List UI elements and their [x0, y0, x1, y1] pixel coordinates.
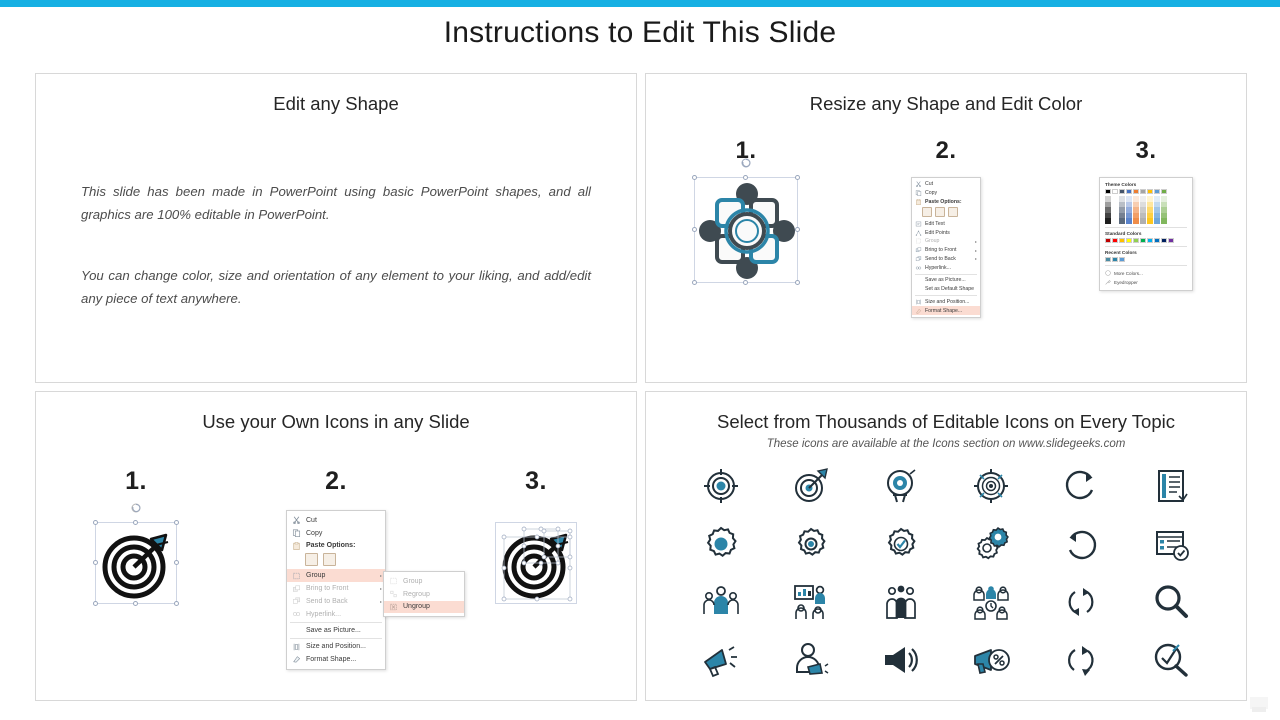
- submenu-item-regroup[interactable]: Regroup: [384, 588, 464, 601]
- megaphone-icon: [701, 640, 741, 680]
- megaphone-percent-icon: [971, 640, 1011, 680]
- context-menu-item-save-as-picture[interactable]: Save as Picture...: [912, 276, 980, 285]
- target-dart-icon: [96, 523, 178, 605]
- recent-color-swatch[interactable]: [1105, 257, 1111, 262]
- group-icon: [915, 238, 922, 244]
- standard-color-swatch[interactable]: [1126, 238, 1132, 243]
- cut-icon: [915, 181, 922, 187]
- resize-handle-bl[interactable]: [692, 280, 697, 285]
- presentation-team-icon: [791, 582, 831, 622]
- context-menu-item-save-as-picture[interactable]: Save as Picture...: [287, 624, 385, 636]
- theme-color-shade-column: [1147, 196, 1153, 224]
- crosshair-scope-icon: [971, 466, 1011, 506]
- context-menu-separator: [290, 638, 382, 639]
- step-visual: [41, 522, 231, 642]
- theme-color-shade-column: [1154, 196, 1160, 224]
- context-menu-separator: [915, 295, 977, 296]
- resize-handle-ml[interactable]: [93, 560, 98, 565]
- theme-color-shade-column: [1161, 196, 1167, 224]
- more-colors-label: More Colors...: [1114, 271, 1143, 276]
- theme-color-shade-swatch[interactable]: [1105, 218, 1111, 224]
- panel-icon-library-subtitle: These icons are available at the Icons s…: [646, 438, 1246, 450]
- format-shape-icon: [915, 308, 922, 314]
- context-menu-item-size-and-position[interactable]: Size and Position...: [287, 640, 385, 653]
- icon-cell[interactable]: [946, 521, 1036, 566]
- theme-color-shade-swatch[interactable]: [1126, 218, 1132, 224]
- context-menu-label: Set as Default Shape: [925, 286, 974, 292]
- resize-handle-ml[interactable]: [692, 227, 697, 232]
- resize-step-3: 3. Theme Colors Standard Colors Recent C…: [1051, 137, 1241, 297]
- person-megaphone-icon: [791, 640, 831, 680]
- context-menu-item-size-and-position[interactable]: Size and Position...: [912, 298, 980, 307]
- refresh-clockwise-icon: [1061, 466, 1101, 506]
- theme-color-shade-swatch[interactable]: [1147, 218, 1153, 224]
- target-dart-icon: [496, 523, 578, 605]
- theme-color-swatch[interactable]: [1140, 189, 1146, 194]
- theme-color-swatch[interactable]: [1119, 189, 1125, 194]
- gear-check-icon: [881, 524, 921, 564]
- cut-icon: [292, 516, 301, 524]
- icon-cell[interactable]: [766, 463, 856, 508]
- context-menu-label: Format Shape...: [306, 656, 356, 663]
- step-visual: Cut Copy Paste Options:: [241, 510, 431, 670]
- step-visual: [651, 177, 841, 297]
- context-menu-label: Save as Picture...: [306, 627, 361, 634]
- context-menu-item-set-default-shape[interactable]: Set as Default Shape: [912, 285, 980, 294]
- recent-color-swatch[interactable]: [1119, 257, 1125, 262]
- context-menu-label: Cut: [925, 181, 933, 187]
- resize-handle-tc[interactable]: [743, 175, 748, 180]
- checklist-approved-icon: [1151, 524, 1191, 564]
- context-menu-label: Edit Points: [925, 230, 950, 236]
- copy-icon: [915, 190, 922, 196]
- theme-color-shade-swatch[interactable]: [1133, 218, 1139, 224]
- context-menu-item-bring-to-front[interactable]: Bring to Front ▸: [912, 246, 980, 255]
- icon-cell[interactable]: [1036, 637, 1126, 682]
- resize-handle-bc[interactable]: [743, 280, 748, 285]
- standard-color-swatch[interactable]: [1105, 238, 1111, 243]
- regroup-icon: [389, 590, 398, 598]
- context-menu-item-hyperlink[interactable]: Hyperlink...: [912, 263, 980, 272]
- panel-icon-library-title: Select from Thousands of Editable Icons …: [646, 411, 1246, 433]
- theme-color-shade-swatch[interactable]: [1140, 218, 1146, 224]
- icon-cell[interactable]: [1036, 521, 1126, 566]
- theme-color-shade-swatch[interactable]: [1112, 218, 1118, 224]
- eyedropper-icon: [1105, 279, 1111, 285]
- resize-handle-tr[interactable]: [795, 175, 800, 180]
- context-menu-item-format-shape[interactable]: Format Shape...: [912, 306, 980, 315]
- resize-step-2: 2. Cut Copy Paste Options:: [851, 137, 1041, 318]
- context-menu-item-edit-text[interactable]: Edit Text: [912, 219, 980, 228]
- more-colors-icon: [1105, 270, 1111, 276]
- step-number: 2.: [241, 467, 431, 496]
- bring-front-icon: [292, 585, 301, 593]
- icon-library-grid: [676, 463, 1216, 682]
- standard-color-swatch[interactable]: [1154, 238, 1160, 243]
- theme-color-swatch[interactable]: [1126, 189, 1132, 194]
- theme-color-swatch[interactable]: [1105, 189, 1111, 194]
- context-menu-item-edit-points[interactable]: Edit Points: [912, 228, 980, 237]
- context-menu-label: Save as Picture...: [925, 277, 966, 283]
- submenu-item-ungroup[interactable]: Ungroup: [384, 601, 464, 614]
- recent-color-swatch[interactable]: [1112, 257, 1118, 262]
- resize-handle-mr[interactable]: [795, 227, 800, 232]
- theme-color-swatch[interactable]: [1154, 189, 1160, 194]
- panel-grid: Edit any Shape This slide has been made …: [35, 73, 1247, 695]
- theme-color-shade-swatch[interactable]: [1154, 218, 1160, 224]
- edit-shape-paragraph-2: You can change color, size and orientati…: [81, 265, 591, 310]
- paste-options-row: [287, 552, 385, 569]
- theme-color-swatch[interactable]: [1147, 189, 1153, 194]
- resize-handle-tr[interactable]: [174, 520, 179, 525]
- color-picker-separator: [1105, 246, 1187, 247]
- step-visual: Theme Colors Standard Colors Recent Colo…: [1051, 177, 1241, 297]
- context-menu-item-cut[interactable]: Cut: [287, 514, 385, 527]
- resize-handle-br[interactable]: [795, 280, 800, 285]
- context-menu-label: Size and Position...: [925, 299, 969, 305]
- submenu-label: Ungroup: [403, 603, 430, 610]
- context-menu-label: Hyperlink...: [306, 611, 341, 618]
- page-title: Instructions to Edit This Slide: [0, 16, 1280, 50]
- target-crosshair-icon: [701, 466, 741, 506]
- icon-cell[interactable]: [1126, 521, 1216, 566]
- recent-colors-row: [1105, 257, 1187, 262]
- theme-colors-label: Theme Colors: [1105, 182, 1187, 187]
- panel-own-icons: Use your Own Icons in any Slide 1.: [35, 391, 637, 701]
- refresh-cycle-icon: [1061, 640, 1101, 680]
- more-colors-button[interactable]: More Colors...: [1105, 269, 1187, 278]
- gear-outline-icon: [791, 524, 831, 564]
- panel-own-icons-title: Use your Own Icons in any Slide: [36, 411, 636, 433]
- context-menu-item-copy[interactable]: Copy: [287, 527, 385, 540]
- theme-color-shade-column: [1133, 196, 1139, 224]
- slide-watermark-icon: [1246, 693, 1272, 715]
- context-menu-item-paste-options[interactable]: Paste Options:: [912, 198, 980, 207]
- icon-cell[interactable]: [1036, 463, 1126, 508]
- rotate-handle-icon[interactable]: [741, 158, 751, 168]
- submenu-arrow-icon: ▸: [380, 586, 382, 591]
- context-menu-label: Hyperlink...: [925, 265, 951, 271]
- color-picker-panel[interactable]: Theme Colors Standard Colors Recent Colo…: [1099, 177, 1193, 291]
- context-menu-item-group[interactable]: Group ▸: [287, 569, 385, 582]
- step-number: 1.: [41, 467, 231, 496]
- people-crowd-icon: [881, 582, 921, 622]
- editable-quad-shape-icon: [695, 178, 799, 284]
- icon-selection-box[interactable]: [95, 522, 177, 604]
- context-menu-item-group[interactable]: Group ▸: [912, 237, 980, 246]
- bring-front-icon: [915, 247, 922, 253]
- theme-color-swatch[interactable]: [1112, 189, 1118, 194]
- panel-icon-library: Select from Thousands of Editable Icons …: [645, 391, 1247, 701]
- gear-solid-icon: [701, 524, 741, 564]
- eyedropper-label: Eyedropper: [1114, 280, 1138, 285]
- icon-cell[interactable]: [856, 463, 946, 508]
- loudspeaker-icon: [881, 640, 921, 680]
- resize-handle-tl[interactable]: [93, 520, 98, 525]
- resize-handle-br[interactable]: [174, 601, 179, 606]
- sync-circular-arrows-icon: [1061, 582, 1101, 622]
- icon-cell[interactable]: [946, 637, 1036, 682]
- context-menu-label: Cut: [306, 517, 317, 524]
- context-menu-item-hyperlink[interactable]: Hyperlink...: [287, 608, 385, 621]
- theme-color-shade-column: [1126, 196, 1132, 224]
- theme-color-shade-column: [1140, 196, 1146, 224]
- icon-cell[interactable]: [676, 521, 766, 566]
- hyperlink-icon: [292, 610, 301, 618]
- submenu-arrow-icon: ▸: [380, 599, 382, 604]
- context-menu-label: Edit Text: [925, 221, 945, 227]
- submenu-arrow-icon: ▸: [975, 239, 977, 244]
- standard-color-swatch[interactable]: [1161, 238, 1167, 243]
- paste-icon: [915, 199, 922, 205]
- paste-options-row: [912, 206, 980, 219]
- context-menu-label: Bring to Front: [306, 585, 348, 592]
- icon-cell[interactable]: [676, 463, 766, 508]
- icon-cell[interactable]: [766, 637, 856, 682]
- submenu-label: Group: [403, 578, 422, 585]
- submenu-arrow-icon: ▸: [975, 256, 977, 261]
- context-menu-label: Group: [306, 572, 325, 579]
- submenu-label: Regroup: [403, 591, 430, 598]
- shape-context-menu[interactable]: Cut Copy Paste Options:: [911, 177, 981, 318]
- refresh-arrow-icon: [1061, 524, 1101, 564]
- context-menu-label: Bring to Front: [925, 247, 956, 253]
- context-menu-label: Copy: [925, 190, 937, 196]
- context-menu-label: Send to Back: [925, 256, 956, 262]
- icon-cell[interactable]: [676, 579, 766, 624]
- icon-context-menu[interactable]: Cut Copy Paste Options:: [286, 510, 386, 670]
- group-icon: [389, 577, 398, 585]
- edit-shape-paragraph-1: This slide has been made in PowerPoint u…: [81, 181, 591, 226]
- rotate-handle-icon[interactable]: [131, 503, 141, 513]
- step-number: 3.: [1051, 137, 1241, 165]
- paste-icon: [292, 542, 301, 550]
- standard-color-swatch[interactable]: [1112, 238, 1118, 243]
- context-menu-item-send-to-back[interactable]: Send to Back ▸: [912, 254, 980, 263]
- icon-cell[interactable]: [946, 463, 1036, 508]
- own-icons-step-2: 2. Cut Copy: [241, 467, 431, 670]
- own-icons-step-1: 1.: [41, 467, 231, 642]
- target-stand-icon: [881, 466, 921, 506]
- context-menu-label: Paste Options:: [306, 542, 355, 549]
- size-position-icon: [292, 643, 301, 651]
- paste-option-keep-formatting-icon[interactable]: [305, 553, 318, 566]
- context-menu-item-paste-options[interactable]: Paste Options:: [287, 540, 385, 553]
- resize-step-1: 1.: [651, 137, 841, 297]
- context-menu-label: Paste Options:: [925, 199, 962, 205]
- dartboard-dart-icon: [791, 466, 831, 506]
- meeting-people-icon: [971, 582, 1011, 622]
- recent-colors-label: Recent Colors: [1105, 250, 1187, 255]
- standard-color-swatch[interactable]: [1147, 238, 1153, 243]
- standard-colors-row: [1105, 238, 1187, 243]
- own-icons-step-3: 3.: [441, 467, 631, 642]
- double-gear-icon: [971, 524, 1011, 564]
- standard-color-swatch[interactable]: [1119, 238, 1125, 243]
- icon-cell[interactable]: [766, 521, 856, 566]
- theme-color-shade-swatch[interactable]: [1119, 218, 1125, 224]
- group-icon: [292, 572, 301, 580]
- theme-color-shade-column: [1112, 196, 1118, 224]
- standard-color-swatch[interactable]: [1133, 238, 1139, 243]
- submenu-item-group[interactable]: Group: [384, 575, 464, 588]
- resize-handle-tl[interactable]: [692, 175, 697, 180]
- submenu-arrow-icon: ▸: [975, 248, 977, 253]
- step-number: 2.: [851, 137, 1041, 165]
- context-menu-label: Size and Position...: [306, 643, 366, 650]
- theme-shades-grid: [1105, 196, 1187, 224]
- icon-cell[interactable]: [856, 579, 946, 624]
- step-visual: Cut Copy Paste Options:: [851, 177, 1041, 318]
- copy-icon: [292, 529, 301, 537]
- group-submenu[interactable]: Group Regroup Ungroup: [383, 571, 465, 617]
- resize-handle-bl[interactable]: [93, 601, 98, 606]
- standard-color-swatch[interactable]: [1168, 238, 1174, 243]
- context-menu-item-format-shape[interactable]: Format Shape...: [287, 653, 385, 666]
- edit-points-icon: [915, 230, 922, 236]
- checklist-document-icon: [1151, 466, 1191, 506]
- format-shape-icon: [292, 655, 301, 663]
- color-picker-separator: [1105, 227, 1187, 228]
- submenu-arrow-icon: ▸: [380, 573, 382, 578]
- paste-option-picture-icon[interactable]: [323, 553, 336, 566]
- theme-color-shade-column: [1105, 196, 1111, 224]
- context-menu-label: Copy: [306, 530, 322, 537]
- resize-handle-bc[interactable]: [133, 601, 138, 606]
- icon-cell[interactable]: [856, 637, 946, 682]
- icon-cell[interactable]: [1126, 637, 1216, 682]
- shape-selection-box[interactable]: [694, 177, 798, 283]
- paste-option-keep-formatting-icon[interactable]: [922, 207, 932, 217]
- panel-edit-shape: Edit any Shape This slide has been made …: [35, 73, 637, 383]
- icon-cell[interactable]: [856, 521, 946, 566]
- accent-top-bar: [0, 0, 1280, 7]
- standard-colors-label: Standard Colors: [1105, 231, 1187, 236]
- edit-text-icon: [915, 221, 922, 227]
- team-group-icon: [701, 582, 741, 622]
- hyperlink-icon: [915, 265, 922, 271]
- standard-color-swatch[interactable]: [1140, 238, 1146, 243]
- send-back-icon: [292, 597, 301, 605]
- theme-color-shade-swatch[interactable]: [1161, 218, 1167, 224]
- panel-resize-shape: Resize any Shape and Edit Color 1.: [645, 73, 1247, 383]
- resize-handle-mr[interactable]: [174, 560, 179, 565]
- context-menu-item-cut[interactable]: Cut: [912, 180, 980, 189]
- ungrouped-icon-selection[interactable]: [495, 522, 577, 604]
- resize-handle-tc[interactable]: [133, 520, 138, 525]
- context-menu-separator: [290, 622, 382, 623]
- step-visual: [441, 522, 631, 642]
- resize-steps: 1.: [646, 137, 1246, 318]
- eyedropper-button[interactable]: Eyedropper: [1105, 278, 1187, 287]
- icon-cell[interactable]: [1126, 463, 1216, 508]
- panel-edit-shape-title: Edit any Shape: [36, 93, 636, 115]
- theme-color-swatch[interactable]: [1161, 189, 1167, 194]
- context-menu-separator: [915, 274, 977, 275]
- paste-option-text-icon[interactable]: [948, 207, 958, 217]
- theme-colors-row: [1105, 189, 1187, 194]
- icon-cell[interactable]: [676, 637, 766, 682]
- context-menu-item-copy[interactable]: Copy: [912, 189, 980, 198]
- send-back-icon: [915, 256, 922, 262]
- context-menu-label: Send to Back: [306, 598, 348, 605]
- icon-cell[interactable]: [946, 579, 1036, 624]
- context-menu-wrapper: Cut Copy Paste Options:: [286, 510, 386, 670]
- context-menu-item-bring-to-front[interactable]: Bring to Front ▸: [287, 582, 385, 595]
- theme-color-shade-column: [1119, 196, 1125, 224]
- color-picker-separator: [1105, 265, 1187, 266]
- context-menu-item-send-to-back[interactable]: Send to Back ▸: [287, 595, 385, 608]
- step-number: 3.: [441, 467, 631, 496]
- own-icons-steps: 1.: [36, 467, 636, 670]
- magnifier-check-icon: [1151, 640, 1191, 680]
- context-menu-label: Group: [925, 238, 939, 244]
- magnifier-icon: [1151, 582, 1191, 622]
- icon-cell[interactable]: [1036, 579, 1126, 624]
- ungroup-icon: [389, 603, 398, 611]
- context-menu-label: Format Shape...: [925, 308, 962, 314]
- size-position-icon: [915, 299, 922, 305]
- theme-color-swatch[interactable]: [1133, 189, 1139, 194]
- paste-option-picture-icon[interactable]: [935, 207, 945, 217]
- panel-resize-shape-title: Resize any Shape and Edit Color: [646, 93, 1246, 115]
- icon-cell[interactable]: [766, 579, 856, 624]
- icon-cell[interactable]: [1126, 579, 1216, 624]
